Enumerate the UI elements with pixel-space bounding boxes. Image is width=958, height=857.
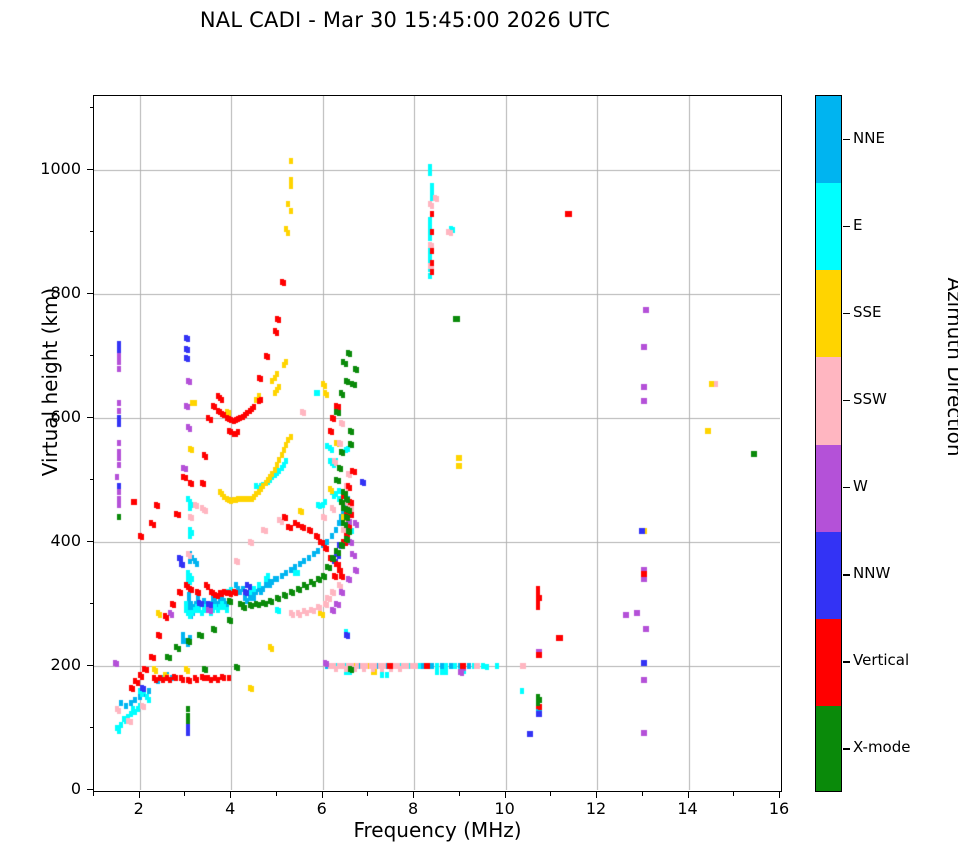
colorbar-label-sse: SSE <box>853 303 882 321</box>
colorbar-tick <box>843 487 850 488</box>
y-axis-label: Virtual height (km) <box>38 222 62 542</box>
y-tick-label: 1000 <box>21 159 81 178</box>
y-tick-label: 400 <box>21 531 81 550</box>
colorbar-segment-x-mode <box>816 706 841 792</box>
x-axis-label: Frequency (MHz) <box>93 818 782 842</box>
colorbar-tick <box>843 139 850 140</box>
x-tick-label: 14 <box>658 799 718 818</box>
y-tick-label: 600 <box>21 407 81 426</box>
y-minor-tick <box>90 355 94 356</box>
y-tick-mark <box>87 541 93 542</box>
y-tick-mark <box>87 789 93 790</box>
ionogram-scatter-canvas <box>94 96 780 790</box>
colorbar-segment-sse <box>816 270 841 357</box>
y-tick-label: 800 <box>21 283 81 302</box>
colorbar-label-x-mode: X-mode <box>853 738 910 756</box>
colorbar-tick <box>843 313 850 314</box>
colorbar-label-ssw: SSW <box>853 390 887 408</box>
colorbar-tick <box>843 748 850 749</box>
x-tick-label: 12 <box>566 799 626 818</box>
x-tick-label: 6 <box>292 799 352 818</box>
colorbar-label-w: W <box>853 477 868 495</box>
y-tick-mark <box>87 169 93 170</box>
x-tick-mark <box>779 792 780 798</box>
colorbar-segment-nne <box>816 96 841 183</box>
y-minor-tick <box>90 603 94 604</box>
x-minor-tick <box>642 792 643 796</box>
colorbar-tick <box>843 400 850 401</box>
x-minor-tick <box>93 792 94 796</box>
x-minor-tick <box>367 792 368 796</box>
x-tick-label: 16 <box>749 799 809 818</box>
x-tick-label: 2 <box>109 799 169 818</box>
x-tick-mark <box>413 792 414 798</box>
x-minor-tick <box>276 792 277 796</box>
y-minor-tick <box>90 107 94 108</box>
colorbar-segment-vertical <box>816 619 841 706</box>
plot-area <box>93 95 782 792</box>
colorbar-tick <box>843 226 850 227</box>
y-minor-tick <box>90 479 94 480</box>
x-tick-label: 8 <box>383 799 443 818</box>
colorbar <box>815 95 842 792</box>
x-tick-mark <box>139 792 140 798</box>
colorbar-segment-ssw <box>816 357 841 444</box>
x-tick-mark <box>322 792 323 798</box>
y-tick-mark <box>87 417 93 418</box>
x-tick-mark <box>596 792 597 798</box>
y-minor-tick <box>90 231 94 232</box>
colorbar-label-nne: NNE <box>853 129 885 147</box>
x-tick-mark <box>230 792 231 798</box>
colorbar-axis-label: Azimuth Direction <box>943 207 958 527</box>
x-minor-tick <box>184 792 185 796</box>
x-tick-label: 4 <box>200 799 260 818</box>
x-minor-tick <box>550 792 551 796</box>
y-tick-mark <box>87 665 93 666</box>
colorbar-tick <box>843 574 850 575</box>
page-title: NAL CADI - Mar 30 15:45:00 2026 UTC <box>0 8 810 32</box>
y-tick-label: 200 <box>21 655 81 674</box>
x-tick-label: 10 <box>475 799 535 818</box>
y-minor-tick <box>90 727 94 728</box>
y-tick-label: 0 <box>21 779 81 798</box>
colorbar-tick <box>843 661 850 662</box>
colorbar-label-e: E <box>853 216 862 234</box>
x-tick-mark <box>688 792 689 798</box>
colorbar-segment-w <box>816 445 841 532</box>
colorbar-label-vertical: Vertical <box>853 651 909 669</box>
x-minor-tick <box>459 792 460 796</box>
ionogram-figure: NAL CADI - Mar 30 15:45:00 2026 UTC Freq… <box>0 0 958 857</box>
colorbar-segment-nnw <box>816 532 841 619</box>
x-minor-tick <box>733 792 734 796</box>
y-tick-mark <box>87 293 93 294</box>
x-tick-mark <box>505 792 506 798</box>
colorbar-label-nnw: NNW <box>853 564 890 582</box>
colorbar-segment-e <box>816 183 841 270</box>
